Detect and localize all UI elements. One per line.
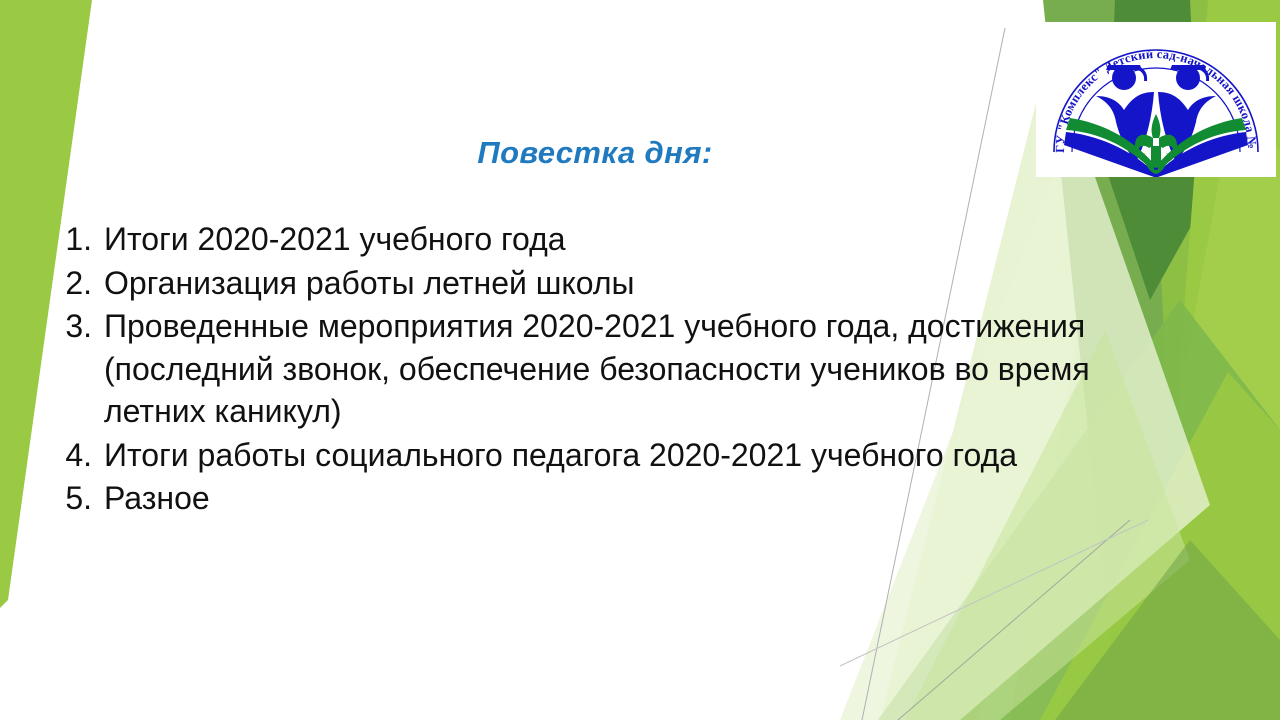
- list-item-number: 5.: [46, 477, 92, 520]
- hairline-diagonal-short: [898, 520, 1130, 720]
- list-item-number: 1.: [46, 218, 92, 261]
- list-item-label: Итоги работы социального педагога 2020-2…: [104, 434, 1116, 477]
- list-item-label: Организация работы летней школы: [104, 262, 1116, 305]
- presentation-slide: КГУ "Комплекс" Детский сад-начальная шко…: [0, 0, 1280, 720]
- hairline-flat: [840, 520, 1148, 666]
- list-item-number: 4.: [46, 434, 92, 477]
- page-title: Повестка дня:: [0, 135, 1190, 171]
- list-item: 4. Итоги работы социального педагога 202…: [46, 434, 1116, 477]
- list-item: 5. Разное: [46, 477, 1116, 520]
- list-item: 2. Организация работы летней школы: [46, 262, 1116, 305]
- list-item-label: Проведенные мероприятия 2020-2021 учебно…: [104, 305, 1116, 433]
- agenda-list: 1. Итоги 2020-2021 учебного года 2. Орга…: [46, 218, 1116, 521]
- list-item-number: 2.: [46, 262, 92, 305]
- list-item: 3. Проведенные мероприятия 2020-2021 уче…: [46, 305, 1116, 433]
- list-item-label: Итоги 2020-2021 учебного года: [104, 218, 1116, 261]
- bottom-dark-wedge: [1055, 540, 1280, 720]
- right-bright-green-wedge: [1120, 110, 1280, 720]
- list-item: 1. Итоги 2020-2021 учебного года: [46, 218, 1116, 261]
- list-item-number: 3.: [46, 305, 92, 348]
- list-item-label: Разное: [104, 477, 1116, 520]
